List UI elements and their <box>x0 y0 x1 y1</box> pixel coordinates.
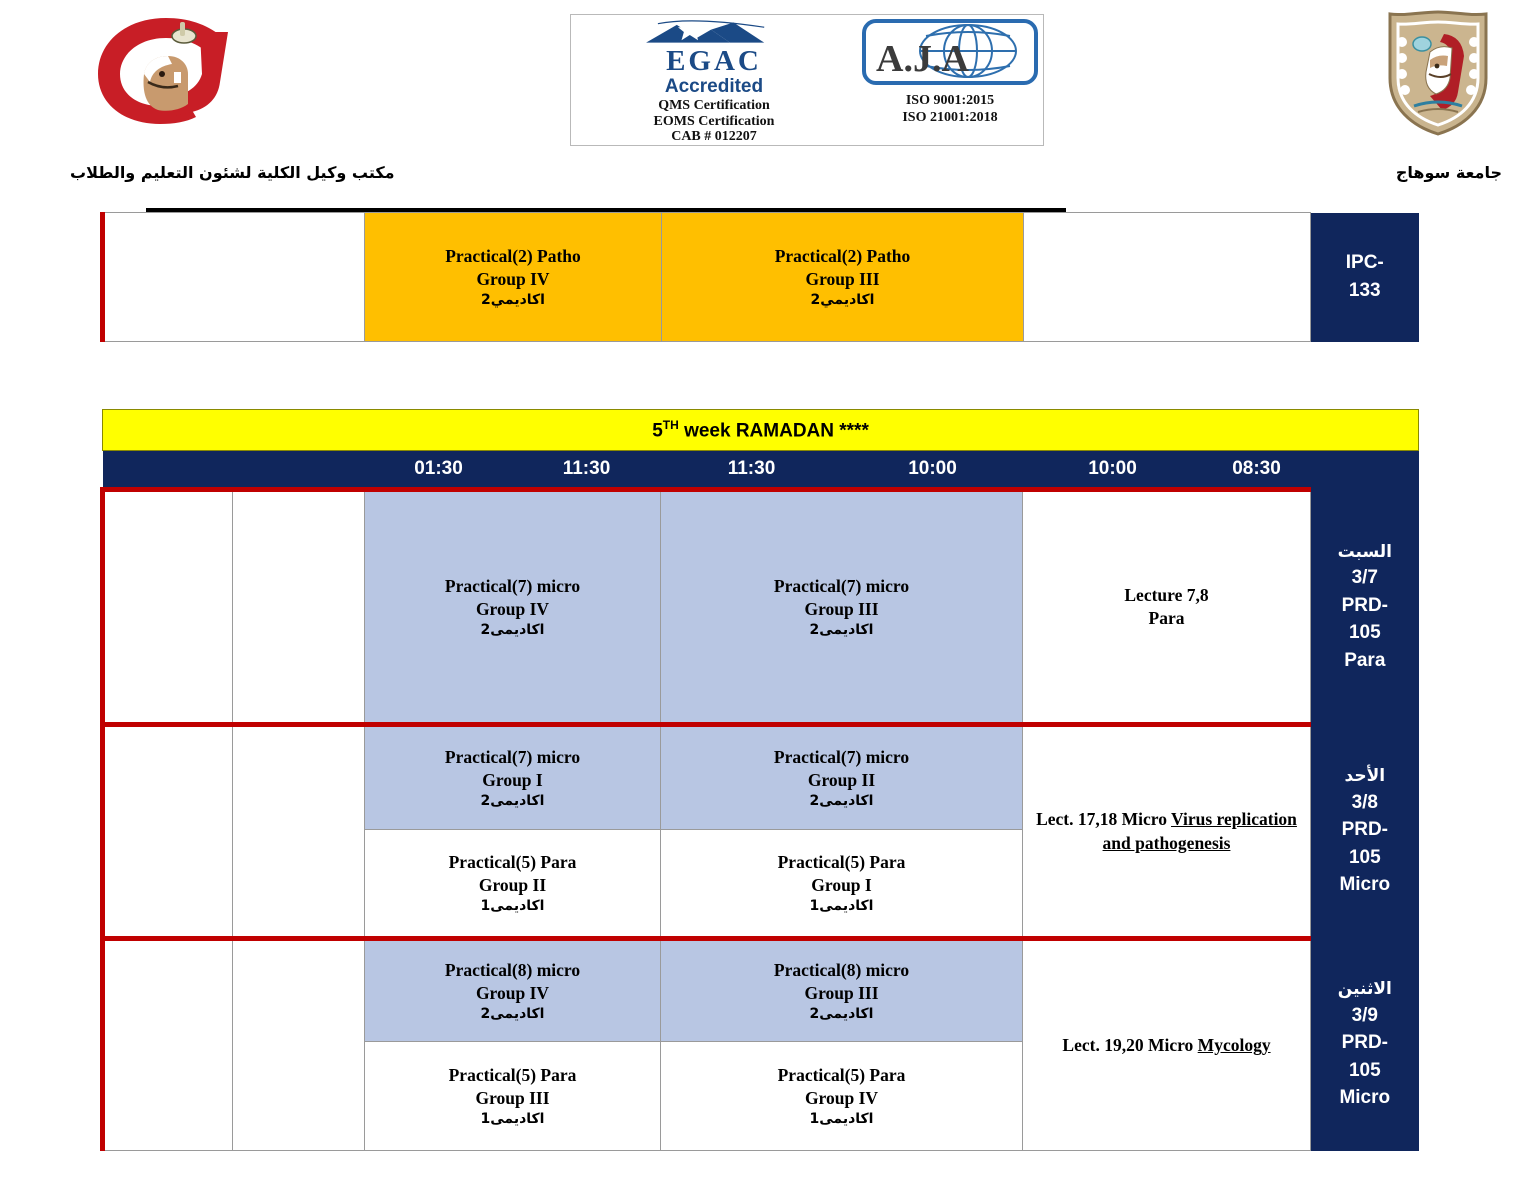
aja-logo: A.J.A ISO 9001:2015 ISO 21001:2018 <box>857 15 1043 145</box>
r2b-session-1-group: Group IV <box>661 1087 1022 1110</box>
r0-session-0-room: اكاديمى2 <box>365 621 660 639</box>
r2-lecture-plain: Lect. 19,20 Micro <box>1062 1035 1197 1055</box>
sohag-faculty-of-medicine-logo <box>88 12 248 130</box>
top-cell-0 <box>103 213 365 342</box>
r2-blank-a <box>103 939 233 1151</box>
office-label: مكتب وكيل الكلية لشئون التعليم والطلاب <box>70 163 395 182</box>
r2-session-1-group: Group III <box>661 982 1022 1005</box>
egac-accredited: Accredited <box>665 77 763 96</box>
r1b-session-0: Practical(5) Para Group II اكاديمى1 <box>365 830 661 939</box>
r1-blank-a <box>103 725 233 939</box>
time-header-0 <box>103 451 233 490</box>
certification-logos: EGAC Accredited QMS Certification EOMS C… <box>570 14 1044 146</box>
r1-lecture: Lect. 17,18 Micro Virus replication and … <box>1023 725 1311 939</box>
r2-lecture: Lect. 19,20 Micro Mycology <box>1023 939 1311 1151</box>
r1b-session-1-title: Practical(5) Para <box>661 851 1022 874</box>
top-cell-1-room: اكاديمي2 <box>365 291 661 309</box>
top-cell-2: Practical(2) Patho Group III اكاديمي2 <box>662 213 1024 342</box>
time-header-0130: 01:30 <box>365 451 513 490</box>
r0-day-subject: Para <box>1311 647 1419 675</box>
time-header-0830: 08:30 <box>1203 451 1311 490</box>
r0-blank-a <box>103 490 233 725</box>
egac-eoms-line: EOMS Certification <box>654 114 775 130</box>
r2-session-0: Practical(8) micro Group IV اكاديمى2 <box>365 939 661 1042</box>
banner-week-number: 5 <box>652 420 663 441</box>
r1-session-0-group: Group I <box>365 769 660 792</box>
r2-session-0-title: Practical(8) micro <box>365 959 660 982</box>
r2-day-code1: PRD- <box>1311 1029 1419 1057</box>
banner-row: 5TH week RAMADAN **** <box>103 410 1419 451</box>
time-header-1130-a: 11:30 <box>513 451 661 490</box>
banner-text: week RAMADAN **** <box>684 420 869 441</box>
egac-logo: EGAC Accredited QMS Certification EOMS C… <box>571 15 857 145</box>
r0-day-name: السبت <box>1311 540 1419 565</box>
r1-session-1: Practical(7) micro Group II اكاديمى2 <box>661 725 1023 830</box>
r2-session-1: Practical(8) micro Group III اكاديمى2 <box>661 939 1023 1042</box>
r1b-session-1-group: Group I <box>661 874 1022 897</box>
r2b-session-0-title: Practical(5) Para <box>365 1064 660 1087</box>
patho-practical-table: Practical(2) Patho Group IV اكاديمي2 Pra… <box>100 212 1419 342</box>
time-header-1000-a: 10:00 <box>843 451 1023 490</box>
r1-session-0-room: اكاديمى2 <box>365 792 660 810</box>
table-row: Practical(7) micro Group I اكاديمى2 Prac… <box>103 725 1419 830</box>
university-label: جامعة سوهاج <box>1396 163 1502 182</box>
r0-session-1-title: Practical(7) micro <box>661 575 1022 598</box>
r2-session-0-room: اكاديمى2 <box>365 1005 660 1023</box>
r1-session-1-room: اكاديمى2 <box>661 792 1022 810</box>
aja-iso9001-line: ISO 9001:2015 <box>902 93 997 110</box>
egac-mountain-icon <box>589 19 839 45</box>
r2b-session-0: Practical(5) Para Group III اكاديمى1 <box>365 1042 661 1151</box>
r0-lecture: Lecture 7,8 Para <box>1023 490 1311 725</box>
egac-name: EGAC <box>666 47 762 76</box>
r1b-session-0-room: اكاديمى1 <box>365 897 660 915</box>
r0-day-code1: PRD- <box>1311 592 1419 620</box>
aja-iso21001-line: ISO 21001:2018 <box>902 110 997 127</box>
time-header-1 <box>233 451 365 490</box>
r0-day-date: 3/7 <box>1311 564 1419 592</box>
r2b-session-0-room: اكاديمى1 <box>365 1110 660 1128</box>
r1-day-subject: Micro <box>1311 871 1419 899</box>
r0-session-1-room: اكاديمى2 <box>661 621 1022 639</box>
sohag-university-shield-logo <box>1374 8 1502 138</box>
egac-qms-line: QMS Certification <box>654 98 775 114</box>
r0-lecture-line2: Para <box>1023 607 1310 630</box>
r2-session-1-title: Practical(8) micro <box>661 959 1022 982</box>
time-header-row: 01:30 11:30 11:30 10:00 10:00 08:30 <box>103 451 1419 490</box>
top-cell-1-group: Group IV <box>365 268 661 291</box>
page-header: EGAC Accredited QMS Certification EOMS C… <box>0 0 1536 200</box>
top-cell-1-title: Practical(2) Patho <box>365 245 661 268</box>
r1-day-name: الأحد <box>1311 764 1419 789</box>
r1-blank-b <box>233 725 365 939</box>
top-day-code1: IPC- <box>1311 249 1419 277</box>
r0-session-0-title: Practical(7) micro <box>365 575 660 598</box>
r1b-session-1: Practical(5) Para Group I اكاديمى1 <box>661 830 1023 939</box>
r1-session-1-group: Group II <box>661 769 1022 792</box>
time-header-1000-b: 10:00 <box>1023 451 1203 490</box>
r0-lecture-line1: Lecture 7,8 <box>1023 584 1310 607</box>
r2-day-name: الاثنين <box>1311 977 1419 1002</box>
r1b-session-0-title: Practical(5) Para <box>365 851 660 874</box>
ramadan-banner: 5TH week RAMADAN **** <box>103 410 1419 451</box>
top-day-label: IPC- 133 <box>1311 213 1419 342</box>
r2b-session-0-group: Group III <box>365 1087 660 1110</box>
r1-session-1-title: Practical(7) micro <box>661 746 1022 769</box>
r1b-session-1-room: اكاديمى1 <box>661 897 1022 915</box>
r0-day-label: السبت 3/7 PRD- 105 Para <box>1311 490 1419 725</box>
r0-session-1-group: Group III <box>661 598 1022 621</box>
banner-week-suffix: TH <box>663 418 679 432</box>
r1-day-date: 3/8 <box>1311 789 1419 817</box>
r2-session-1-room: اكاديمى2 <box>661 1005 1022 1023</box>
r1-lecture-plain: Lect. 17,18 Micro <box>1036 809 1171 829</box>
r2-day-label: الاثنين 3/9 PRD- 105 Micro <box>1311 939 1419 1151</box>
r2b-session-1-title: Practical(5) Para <box>661 1064 1022 1087</box>
r2b-session-1: Practical(5) Para Group IV اكاديمى1 <box>661 1042 1023 1151</box>
r1b-session-0-group: Group II <box>365 874 660 897</box>
time-header-daycol <box>1311 451 1419 490</box>
aja-globe-icon: A.J.A <box>860 19 1040 89</box>
ramadan-week-schedule-table: 5TH week RAMADAN **** 01:30 11:30 11:30 … <box>100 409 1419 1151</box>
egac-cab-line: CAB # 012207 <box>654 129 775 145</box>
r1-session-0: Practical(7) micro Group I اكاديمى2 <box>365 725 661 830</box>
table-row: Practical(7) micro Group IV اكاديمى2 Pra… <box>103 490 1419 725</box>
r0-session-0-group: Group IV <box>365 598 660 621</box>
r1-day-code2: 105 <box>1311 844 1419 872</box>
time-header-1130-b: 11:30 <box>661 451 843 490</box>
top-cell-1: Practical(2) Patho Group IV اكاديمي2 <box>365 213 662 342</box>
r1-session-0-title: Practical(7) micro <box>365 746 660 769</box>
r2-day-code2: 105 <box>1311 1057 1419 1085</box>
r0-day-code2: 105 <box>1311 619 1419 647</box>
r2-day-subject: Micro <box>1311 1084 1419 1112</box>
r2-day-date: 3/9 <box>1311 1002 1419 1030</box>
r2b-session-1-room: اكاديمى1 <box>661 1110 1022 1128</box>
top-cell-2-room: اكاديمي2 <box>662 291 1023 309</box>
r0-session-1: Practical(7) micro Group III اكاديمى2 <box>661 490 1023 725</box>
svg-text:A.J.A: A.J.A <box>876 38 969 80</box>
r2-session-0-group: Group IV <box>365 982 660 1005</box>
top-day-code2: 133 <box>1311 277 1419 305</box>
r0-session-0: Practical(7) micro Group IV اكاديمى2 <box>365 490 661 725</box>
top-cell-2-group: Group III <box>662 268 1023 291</box>
r2-blank-b <box>233 939 365 1151</box>
table-row: Practical(2) Patho Group IV اكاديمي2 Pra… <box>103 213 1419 342</box>
table-row: Practical(8) micro Group IV اكاديمى2 Pra… <box>103 939 1419 1042</box>
r1-day-code1: PRD- <box>1311 816 1419 844</box>
top-cell-3 <box>1024 213 1311 342</box>
r0-blank-b <box>233 490 365 725</box>
r1-day-label: الأحد 3/8 PRD- 105 Micro <box>1311 725 1419 939</box>
top-cell-2-title: Practical(2) Patho <box>662 245 1023 268</box>
r2-lecture-underlined: Mycology <box>1198 1035 1271 1055</box>
